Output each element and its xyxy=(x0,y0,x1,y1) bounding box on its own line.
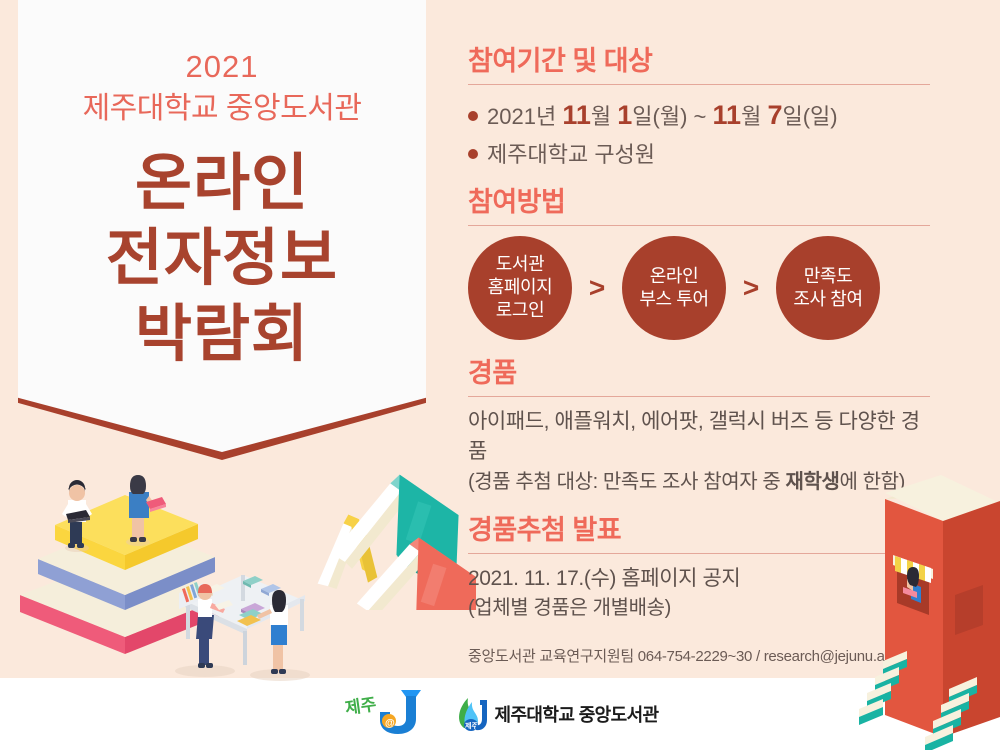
step1-line2: 홈페이지 xyxy=(488,276,553,299)
prize-line2-bold: 재학생 xyxy=(786,471,840,493)
section-prize-heading: 경품 xyxy=(468,358,930,389)
poster-root: 2021 제주대학교 중앙도서관 온라인 전자정보 박람회 xyxy=(0,0,1000,750)
method-step-1: 도서관 홈페이지 로그인 xyxy=(468,236,572,340)
date-day1-unit: 일(월) xyxy=(632,104,687,129)
period-target-text: 제주대학교 구성원 xyxy=(487,138,655,171)
section-method: 참여방법 도서관 홈페이지 로그인 > 온라인 부스 투어 > 만족도 조사 참… xyxy=(468,187,930,340)
date-day2-unit: 일(일) xyxy=(782,104,837,129)
date-prefix: 2021년 xyxy=(487,104,556,129)
step3-line1: 만족도 xyxy=(804,265,852,288)
svg-text:@: @ xyxy=(385,718,395,729)
library-logo-text: 제주대학교 중앙도서관 xyxy=(495,701,659,727)
title-main-line1: 온라인 xyxy=(18,146,426,222)
title-main-line3: 박람회 xyxy=(18,297,426,373)
date-month1: 11 xyxy=(562,100,591,130)
section-prize-divider xyxy=(468,396,930,397)
section-period-heading: 참여기간 및 대상 xyxy=(468,46,930,77)
method-step-3: 만족도 조사 참여 xyxy=(776,236,880,340)
section-period: 참여기간 및 대상 2021년 11월 1일(월) ~ 11월 7일(일) 제주… xyxy=(468,46,930,171)
open-books-illustration xyxy=(296,460,476,610)
title-block: 2021 제주대학교 중앙도서관 온라인 전자정보 박람회 xyxy=(18,48,426,373)
title-main: 온라인 전자정보 박람회 xyxy=(18,146,426,373)
library-flame-logo-icon: 제주 xyxy=(454,694,488,734)
flow-chevron-icon: > xyxy=(732,272,770,304)
step1-line3: 로그인 xyxy=(496,299,544,322)
jeju-j-logo-icon: 제주 @ xyxy=(342,688,426,740)
step2-line1: 온라인 xyxy=(650,265,698,288)
bullet-dot-icon xyxy=(468,111,478,121)
svg-text:제주: 제주 xyxy=(343,695,377,718)
period-date-text: 2021년 11월 1일(월) ~ 11월 7일(일) xyxy=(487,95,838,136)
flow-chevron-icon: > xyxy=(578,272,616,304)
period-target-row: 제주대학교 구성원 xyxy=(468,138,930,171)
prize-line-1: 아이패드, 애플워치, 에어팟, 갤럭시 버즈 등 다양한 경품 xyxy=(468,407,930,468)
footer-logos: 제주 @ 제주 제주대학교 중앙도서관 xyxy=(0,678,1000,750)
date-separator: ~ xyxy=(694,104,707,129)
library-logo: 제주 제주대학교 중앙도서관 xyxy=(454,694,659,734)
title-year: 2021 xyxy=(18,48,426,87)
date-month1-unit: 월 xyxy=(591,104,611,129)
method-step-2: 온라인 부스 투어 xyxy=(622,236,726,340)
date-month2-unit: 월 xyxy=(741,104,761,129)
section-method-divider xyxy=(468,225,930,226)
section-method-heading: 참여방법 xyxy=(468,187,930,218)
bullet-dot-icon xyxy=(468,149,478,159)
step3-line2: 조사 참여 xyxy=(793,288,862,311)
title-main-line2: 전자정보 xyxy=(18,221,426,297)
step1-line1: 도서관 xyxy=(496,253,544,276)
period-date-row: 2021년 11월 1일(월) ~ 11월 7일(일) xyxy=(468,95,930,136)
title-organization: 제주대학교 중앙도서관 xyxy=(18,89,426,128)
date-day2: 7 xyxy=(767,100,782,130)
date-month2: 11 xyxy=(713,100,742,130)
date-day1: 1 xyxy=(617,100,632,130)
method-flow: 도서관 홈페이지 로그인 > 온라인 부스 투어 > 만족도 조사 참여 xyxy=(468,236,930,340)
jeju-j-logo: 제주 @ xyxy=(342,688,426,740)
prize-line2-pre: (경품 추첨 대상: 만족도 조사 참여자 중 xyxy=(468,471,786,493)
step2-line2: 부스 투어 xyxy=(639,288,708,311)
section-period-divider xyxy=(468,84,930,85)
